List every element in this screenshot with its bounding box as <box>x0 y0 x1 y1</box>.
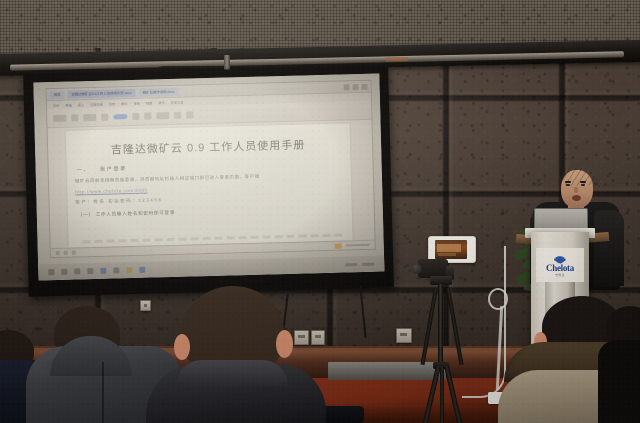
section-heading-text: 账户登录 <box>100 166 127 173</box>
ribbon-tab-insert[interactable]: 插入 <box>78 102 85 107</box>
align-icon[interactable] <box>132 112 139 119</box>
section-number: 一、 <box>77 167 91 173</box>
paste-icon[interactable] <box>53 114 66 121</box>
presenter-nose <box>574 187 578 193</box>
projected-desktop: 首页 吉隆达微矿云0.9工作人员使用手册.docx 微矿云操作说明.docx 文… <box>33 73 384 280</box>
style-icon[interactable] <box>156 112 169 119</box>
tripod-leg-left <box>414 365 440 423</box>
font-size-icon[interactable] <box>83 113 96 120</box>
ribbon-tab-section[interactable]: 章节 <box>158 100 165 105</box>
brand-name: Chelota <box>546 263 574 273</box>
language-icon <box>72 250 76 254</box>
tripod-upper-brace-left <box>420 288 437 366</box>
explorer-icon[interactable] <box>87 268 93 274</box>
close-icon[interactable] <box>361 83 367 89</box>
clock-icon[interactable] <box>345 263 357 266</box>
browser-icon[interactable] <box>100 268 106 274</box>
document-sub-item: （一） 工作人员输入姓名和密码即可登录 <box>78 205 352 218</box>
presenter-mouth <box>572 195 581 201</box>
tripod-adjust-knob[interactable] <box>412 264 422 274</box>
word-count-icon <box>64 251 68 255</box>
wps-word-window[interactable]: 首页 吉隆达微矿云0.9工作人员使用手册.docx 微矿云操作说明.docx 文… <box>46 80 376 258</box>
system-tray[interactable] <box>345 262 374 266</box>
presenter-brow-right <box>580 181 586 183</box>
notification-icon[interactable] <box>362 262 374 265</box>
presenter-eye-left <box>566 184 570 186</box>
tripod-leg-center <box>440 366 444 423</box>
tripod-upper-brace-right <box>446 288 463 366</box>
highlight-icon[interactable] <box>113 114 127 119</box>
replace-icon[interactable] <box>186 111 193 118</box>
attendee-center-ear-right <box>276 330 293 358</box>
attendee-far-right-body <box>598 340 640 423</box>
ribbon-tab-reference[interactable]: 引用 <box>109 101 116 106</box>
tab-manual-doc[interactable]: 吉隆达微矿云0.9工作人员使用手册.docx <box>67 88 135 98</box>
attendee-center <box>160 286 310 423</box>
presenter-eye-right <box>581 184 585 186</box>
presenter-brow-left <box>565 181 571 183</box>
mail-icon[interactable] <box>113 267 119 273</box>
window-controls[interactable] <box>344 83 368 90</box>
attendee-left-zipper <box>102 362 104 423</box>
ribbon-tab-devtools[interactable]: 开发工具 <box>171 99 184 104</box>
ribbon-tab-mail[interactable]: 邮件 <box>121 101 128 106</box>
document-credentials: 账户：姓名 初始密码：123456 <box>75 192 351 205</box>
tab-home[interactable]: 首页 <box>50 90 65 98</box>
bold-icon[interactable] <box>101 113 108 120</box>
podium-brand-logo: Chelota 吉隆达 <box>536 248 584 282</box>
charging-cable-loop <box>488 288 508 310</box>
tab-secondary-doc[interactable]: 微矿云操作说明.docx <box>139 87 179 96</box>
attendee-far-right <box>606 300 640 423</box>
start-icon[interactable] <box>48 269 54 275</box>
ribbon-tab-review[interactable]: 审阅 <box>133 100 140 105</box>
sunburst-icon <box>550 254 570 263</box>
page-count-icon <box>56 251 60 255</box>
status-right-group[interactable] <box>335 242 370 248</box>
ribbon-tab-file[interactable]: 文件 <box>53 102 60 107</box>
wps-icon[interactable] <box>139 267 145 273</box>
attendee-center-collar <box>176 360 288 386</box>
ribbon-tab-start[interactable]: 开始 <box>65 102 72 107</box>
minimize-icon[interactable] <box>344 84 350 90</box>
power-outlet-3 <box>311 330 325 345</box>
folder-icon[interactable] <box>126 267 132 273</box>
font-icon[interactable] <box>71 114 78 121</box>
document-page[interactable]: 吉隆达微矿云 0.9 工作人员使用手册 一、账户登录 微矿云目前支持网页版登录，… <box>66 123 353 247</box>
presenter-hair <box>559 168 595 186</box>
find-icon[interactable] <box>174 111 181 118</box>
brand-subtitle: 吉隆达 <box>555 273 565 277</box>
attendee-center-ear-left <box>174 334 190 360</box>
maximize-icon[interactable] <box>353 84 359 90</box>
search-icon[interactable] <box>61 269 67 275</box>
task-view-icon[interactable] <box>74 268 80 274</box>
zoom-slider[interactable] <box>346 244 370 247</box>
list-icon[interactable] <box>144 112 151 119</box>
tripod-center-column <box>438 284 443 364</box>
presenter-shoulder-right <box>594 210 624 286</box>
vip-badge-icon[interactable] <box>335 243 342 248</box>
screen-surface: 首页 吉隆达微矿云0.9工作人员使用手册.docx 微矿云操作说明.docx 文… <box>33 73 384 280</box>
ribbon-tab-view[interactable]: 视图 <box>146 100 153 105</box>
presentation-room-photo: 首页 吉隆达微矿云0.9工作人员使用手册.docx 微矿云操作说明.docx 文… <box>0 0 640 423</box>
ribbon-tab-layout[interactable]: 页面布局 <box>90 101 103 106</box>
document-title: 吉隆达微矿云 0.9 工作人员使用手册 <box>66 135 350 158</box>
valance-tag <box>386 57 408 61</box>
projection-screen: 首页 吉隆达微矿云0.9工作人员使用手册.docx 微矿云操作说明.docx 文… <box>23 65 394 296</box>
document-section-heading: 一、账户登录 <box>77 159 351 173</box>
